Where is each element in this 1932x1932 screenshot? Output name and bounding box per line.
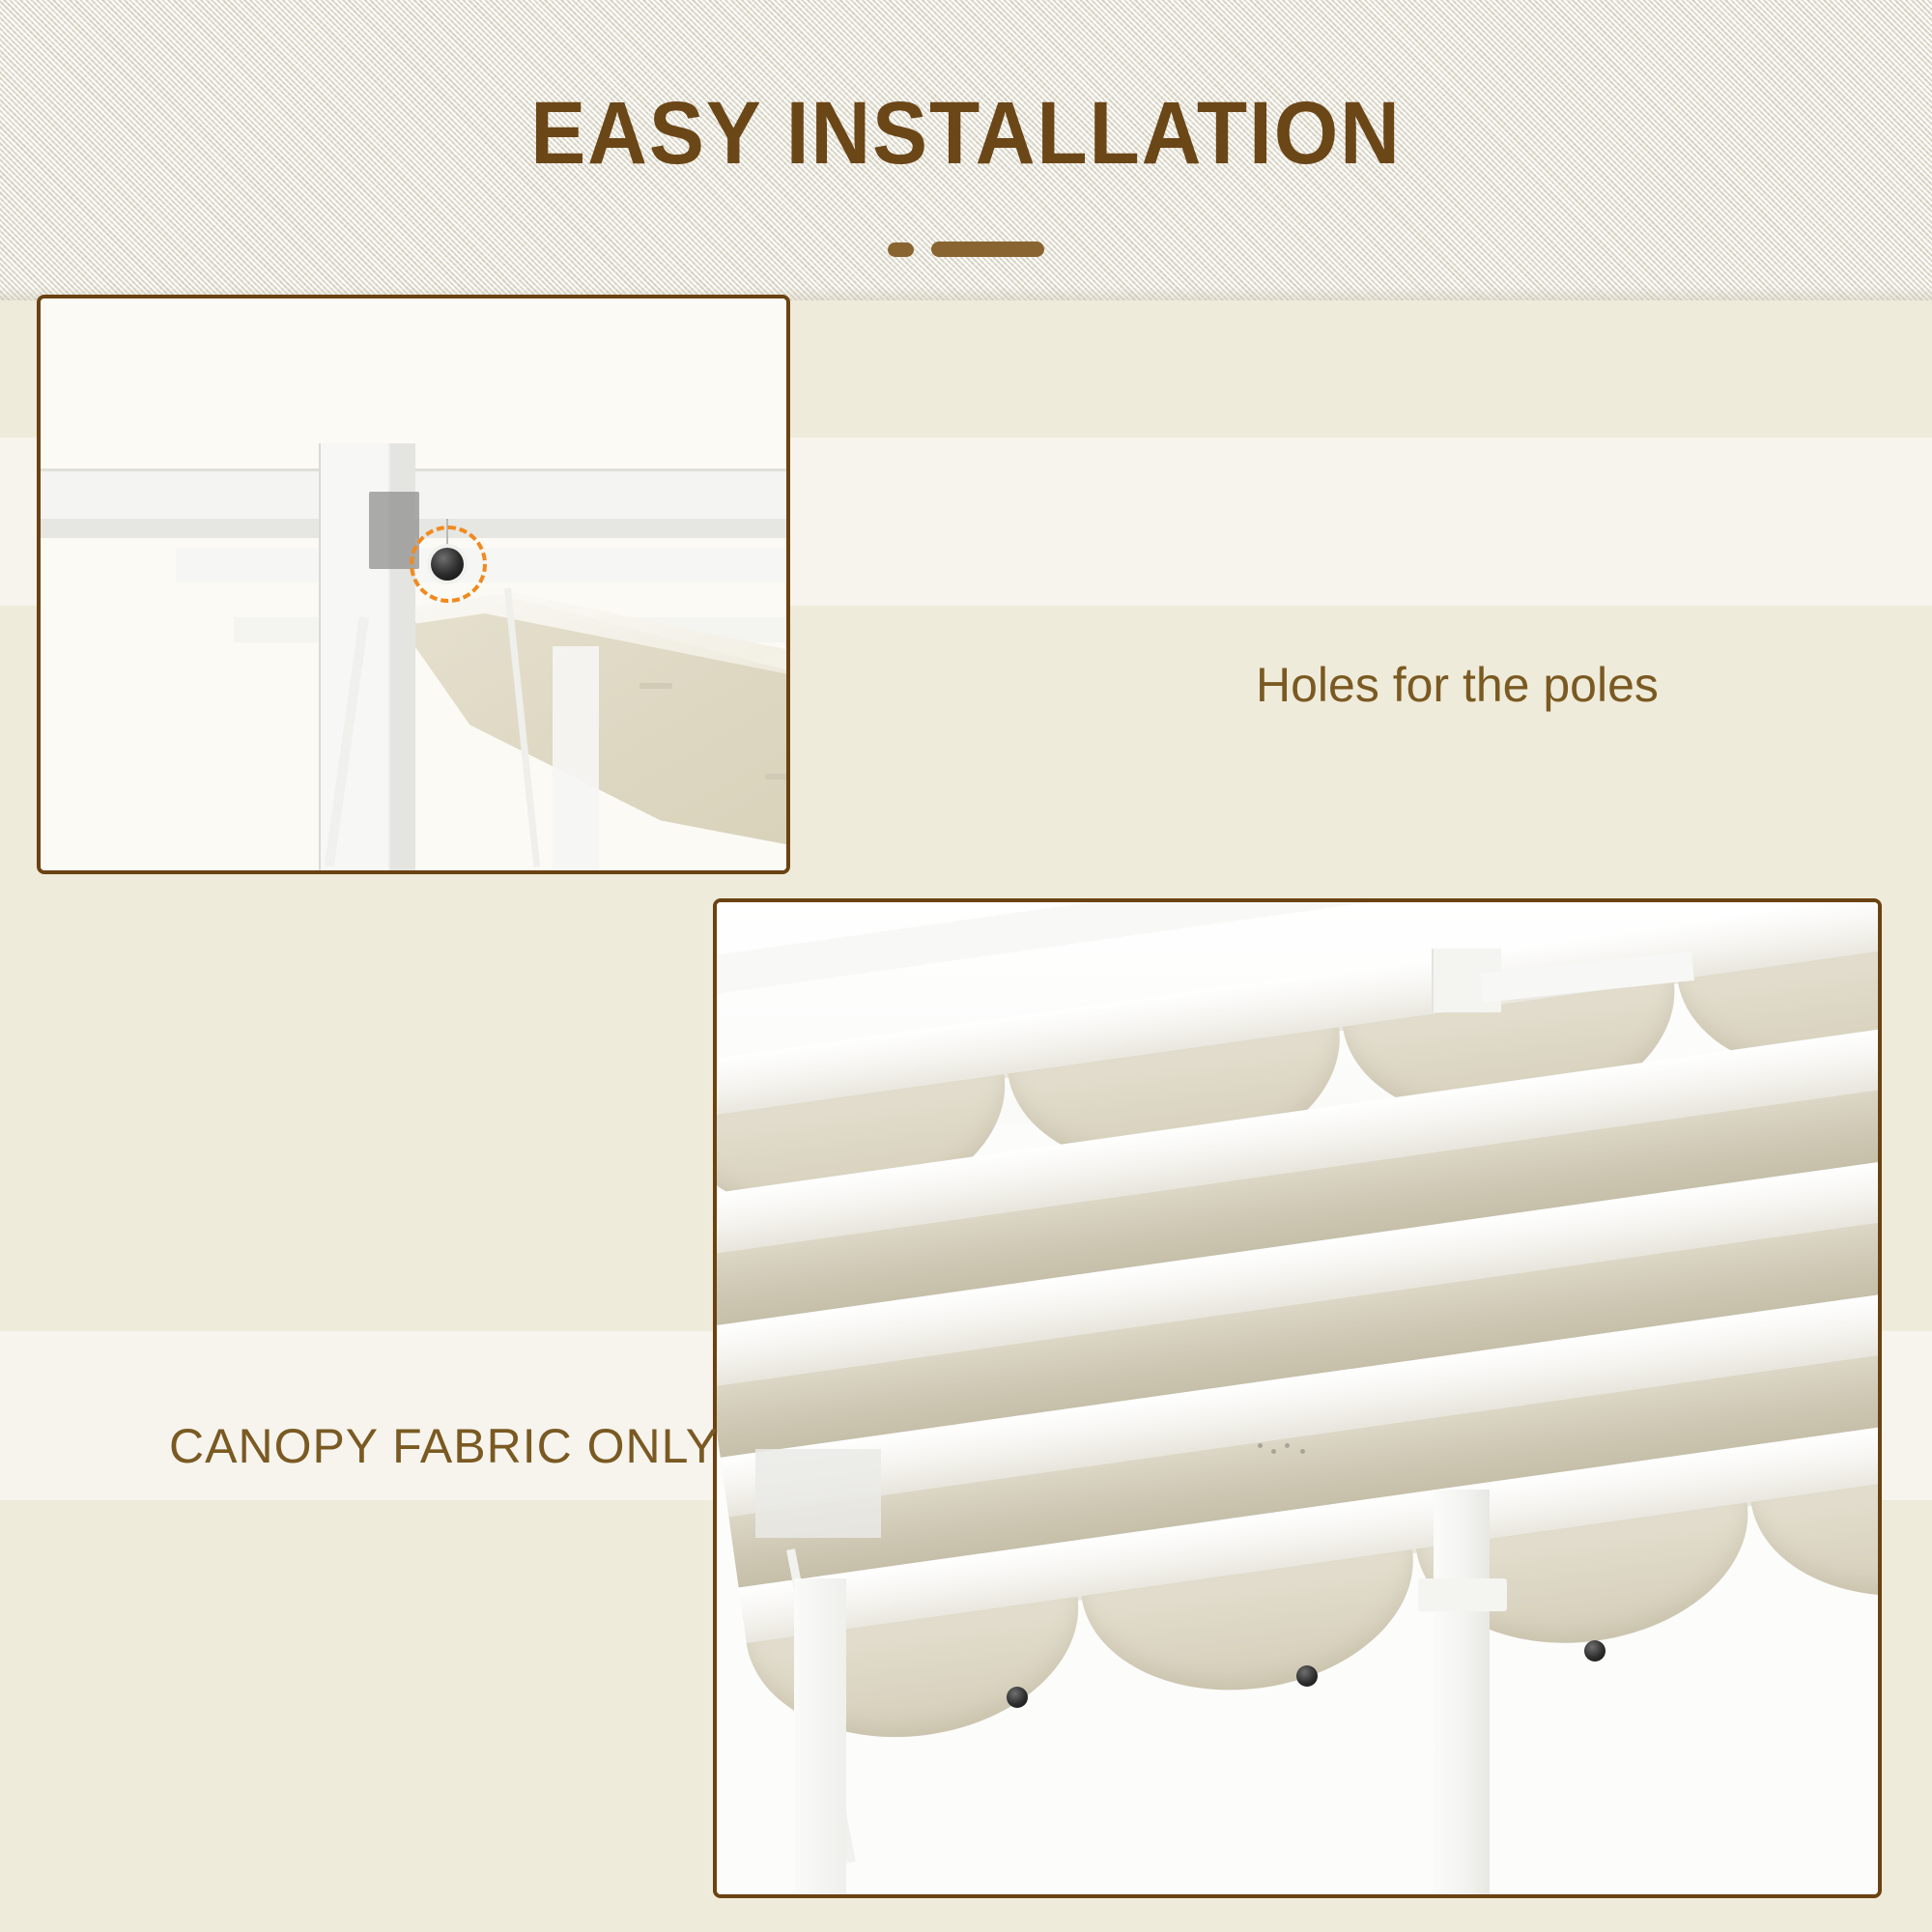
title-divider [0, 241, 1932, 257]
highlight-ring-icon [410, 526, 487, 603]
rivet-icon [1285, 1443, 1290, 1448]
pergola-grommet-photo [41, 298, 786, 870]
grommet-hole-icon [1296, 1665, 1318, 1687]
grommet-hole-icon [1584, 1640, 1605, 1662]
corner-bracket [755, 1449, 881, 1538]
pergola-post-rear [553, 646, 599, 874]
post-mount-plate [1418, 1578, 1507, 1611]
rivet-icon [1300, 1449, 1305, 1454]
pergola-canopy-photo [717, 902, 1878, 1894]
corner-post [794, 1578, 846, 1897]
grommet-hole-icon [1007, 1687, 1028, 1708]
photo-panel-hole-detail [37, 295, 790, 874]
fabric-tab [639, 683, 672, 689]
divider-dot-icon [888, 242, 914, 257]
divider-bar-icon [931, 241, 1044, 257]
caption-holes-for-the-poles: Holes for the poles [1256, 657, 1659, 713]
support-post [1434, 1490, 1490, 1895]
header-banner: EASY INSTALLATION [0, 0, 1932, 300]
infographic-page: EASY INSTALLATION [0, 0, 1932, 1932]
photo-panel-canopy-underside [713, 898, 1882, 1898]
rivet-icon [1258, 1443, 1263, 1448]
fabric-tab-secondary [765, 774, 790, 780]
page-title: EASY INSTALLATION [68, 83, 1864, 185]
rivet-icon [1271, 1449, 1276, 1454]
caption-canopy-fabric-only: CANOPY FABRIC ONLY [169, 1418, 719, 1474]
